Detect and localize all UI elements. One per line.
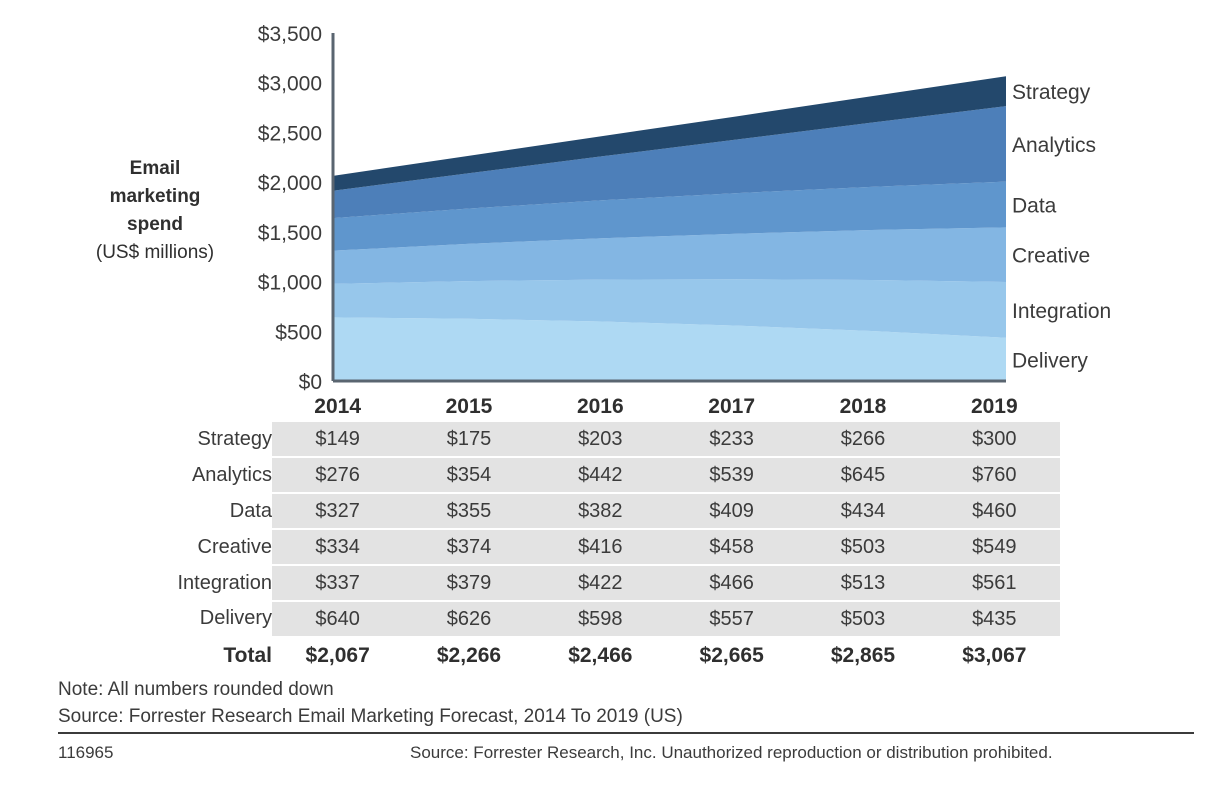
column-header-2019: 2019 <box>929 392 1060 422</box>
stacked-area-chart: $0$500$1,000$1,500$2,000$2,500$3,000$3,5… <box>0 0 1208 392</box>
table-row: Strategy$149$175$203$233$266$300 <box>140 422 1060 457</box>
table-row: Integration$337$379$422$466$513$561 <box>140 565 1060 601</box>
total-cell-2016: $2,466 <box>535 636 666 676</box>
y-axis-title-line3: spend <box>62 211 248 239</box>
cell-creative-2019: $549 <box>929 529 1060 565</box>
document-id: 116965 <box>58 743 113 763</box>
table-row: Analytics$276$354$442$539$645$760 <box>140 457 1060 493</box>
total-cell-2014: $2,067 <box>272 636 403 676</box>
cell-integration-2014: $337 <box>272 565 403 601</box>
column-header-2017: 2017 <box>666 392 797 422</box>
cell-strategy-2019: $300 <box>929 422 1060 457</box>
note-line: Note: All numbers rounded down <box>58 676 1198 703</box>
legend-label-data: Data <box>1012 195 1057 218</box>
table-row: Data$327$355$382$409$434$460 <box>140 493 1060 529</box>
cell-data-2018: $434 <box>797 493 928 529</box>
column-header-2015: 2015 <box>403 392 534 422</box>
y-axis-title-line2: marketing <box>62 183 248 211</box>
row-label-creative: Creative <box>140 529 272 565</box>
footer-bottom: 116965 Source: Forrester Research, Inc. … <box>58 743 1198 767</box>
legend-label-delivery: Delivery <box>1012 349 1088 372</box>
table-body: Strategy$149$175$203$233$266$300Analytic… <box>140 422 1060 636</box>
total-cell-2019: $3,067 <box>929 636 1060 676</box>
legend-label-strategy: Strategy <box>1012 81 1091 104</box>
total-cell-2018: $2,865 <box>797 636 928 676</box>
cell-creative-2018: $503 <box>797 529 928 565</box>
y-axis-title-units: (US$ millions) <box>62 239 248 267</box>
table-head: 201420152016201720182019 <box>140 392 1060 422</box>
cell-analytics-2017: $539 <box>666 457 797 493</box>
total-cell-2015: $2,266 <box>403 636 534 676</box>
cell-creative-2014: $334 <box>272 529 403 565</box>
cell-delivery-2019: $435 <box>929 601 1060 636</box>
area-series-group <box>333 76 1006 381</box>
cell-analytics-2015: $354 <box>403 457 534 493</box>
cell-data-2016: $382 <box>535 493 666 529</box>
total-label: Total <box>140 636 272 676</box>
y-tick-label: $1,000 <box>258 272 322 295</box>
legend-label-creative: Creative <box>1012 245 1090 268</box>
table-row: Creative$334$374$416$458$503$549 <box>140 529 1060 565</box>
cell-data-2015: $355 <box>403 493 534 529</box>
y-tick-label: $3,000 <box>258 73 322 96</box>
cell-data-2019: $460 <box>929 493 1060 529</box>
cell-data-2017: $409 <box>666 493 797 529</box>
row-label-delivery: Delivery <box>140 601 272 636</box>
cell-integration-2018: $513 <box>797 565 928 601</box>
row-label-data: Data <box>140 493 272 529</box>
legend-label-integration: Integration <box>1012 300 1111 323</box>
cell-creative-2016: $416 <box>535 529 666 565</box>
cell-delivery-2014: $640 <box>272 601 403 636</box>
y-axis-title: Email marketing spend (US$ millions) <box>62 155 248 267</box>
cell-strategy-2016: $203 <box>535 422 666 457</box>
cell-creative-2015: $374 <box>403 529 534 565</box>
cell-analytics-2019: $760 <box>929 457 1060 493</box>
source-line: Source: Forrester Research Email Marketi… <box>58 703 1194 734</box>
cell-analytics-2016: $442 <box>535 457 666 493</box>
column-header-2014: 2014 <box>272 392 403 422</box>
row-label-analytics: Analytics <box>140 457 272 493</box>
column-header-2016: 2016 <box>535 392 666 422</box>
footer: Note: All numbers rounded down Source: F… <box>58 676 1198 767</box>
y-axis-title-line1: Email <box>62 155 248 183</box>
cell-delivery-2015: $626 <box>403 601 534 636</box>
chart-legend: StrategyAnalyticsDataCreativeIntegration… <box>1012 81 1111 372</box>
cell-integration-2017: $466 <box>666 565 797 601</box>
cell-delivery-2017: $557 <box>666 601 797 636</box>
cell-data-2014: $327 <box>272 493 403 529</box>
table-foot: Total$2,067$2,266$2,466$2,665$2,865$3,06… <box>140 636 1060 676</box>
table-total-row: Total$2,067$2,266$2,466$2,665$2,865$3,06… <box>140 636 1060 676</box>
table-corner-cell <box>140 392 272 422</box>
y-tick-label: $500 <box>275 321 322 344</box>
cell-integration-2016: $422 <box>535 565 666 601</box>
cell-delivery-2018: $503 <box>797 601 928 636</box>
forecast-table: 201420152016201720182019 Strategy$149$17… <box>140 392 1060 676</box>
total-cell-2017: $2,665 <box>666 636 797 676</box>
cell-strategy-2017: $233 <box>666 422 797 457</box>
legend-label-analytics: Analytics <box>1012 134 1096 157</box>
cell-analytics-2018: $645 <box>797 457 928 493</box>
cell-creative-2017: $458 <box>666 529 797 565</box>
y-tick-label: $3,500 <box>258 23 322 46</box>
row-label-integration: Integration <box>140 565 272 601</box>
cell-integration-2019: $561 <box>929 565 1060 601</box>
y-tick-label: $2,000 <box>258 172 322 195</box>
cell-strategy-2014: $149 <box>272 422 403 457</box>
cell-delivery-2016: $598 <box>535 601 666 636</box>
y-axis-tick-labels: $0$500$1,000$1,500$2,000$2,500$3,000$3,5… <box>258 23 322 392</box>
column-header-2018: 2018 <box>797 392 928 422</box>
table-row: Delivery$640$626$598$557$503$435 <box>140 601 1060 636</box>
cell-strategy-2015: $175 <box>403 422 534 457</box>
y-tick-label: $2,500 <box>258 122 322 145</box>
copyright-notice: Source: Forrester Research, Inc. Unautho… <box>410 743 1053 763</box>
cell-strategy-2018: $266 <box>797 422 928 457</box>
table-header-row: 201420152016201720182019 <box>140 392 1060 422</box>
row-label-strategy: Strategy <box>140 422 272 457</box>
cell-integration-2015: $379 <box>403 565 534 601</box>
y-tick-label: $1,500 <box>258 222 322 245</box>
y-tick-label: $0 <box>299 371 322 392</box>
cell-analytics-2014: $276 <box>272 457 403 493</box>
